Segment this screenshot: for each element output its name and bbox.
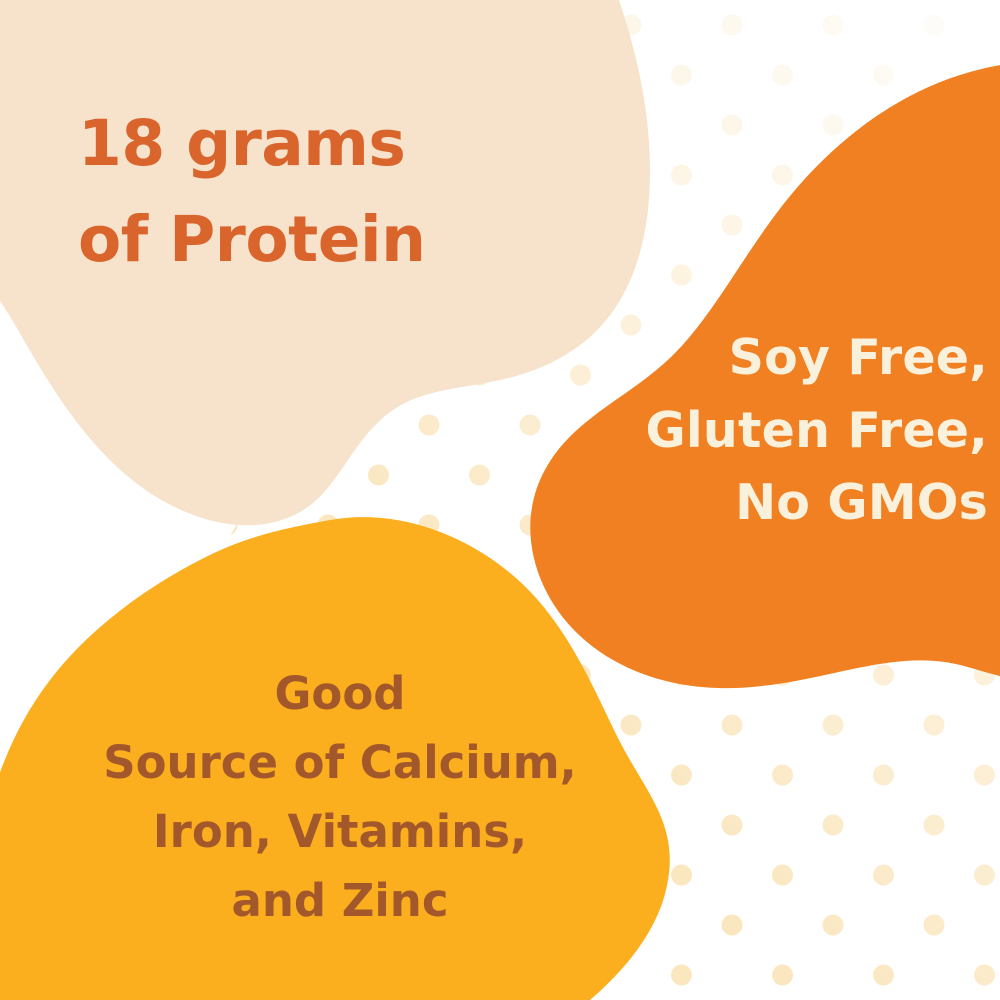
free-from-callout: Soy Free, Gluten Free, No GMOs: [548, 322, 988, 540]
nutrients-line-4: and Zinc: [40, 867, 640, 936]
nutrients-line-1: Good: [40, 660, 640, 729]
free-from-line-2: Gluten Free,: [548, 395, 988, 468]
nutrients-line-2: Source of Calcium,: [40, 729, 640, 798]
protein-line-2: of Protein: [78, 192, 548, 288]
artboard: 18 grams of Protein Soy Free, Gluten Fre…: [0, 0, 1000, 1000]
free-from-line-1: Soy Free,: [548, 322, 988, 395]
protein-line-1: 18 grams: [78, 96, 548, 192]
infographic-canvas: 18 grams of Protein Soy Free, Gluten Fre…: [0, 0, 1000, 1000]
free-from-line-3: No GMOs: [548, 467, 988, 540]
nutrients-line-3: Iron, Vitamins,: [40, 798, 640, 867]
nutrients-callout: Good Source of Calcium, Iron, Vitamins, …: [40, 660, 640, 935]
protein-callout: 18 grams of Protein: [78, 96, 548, 288]
